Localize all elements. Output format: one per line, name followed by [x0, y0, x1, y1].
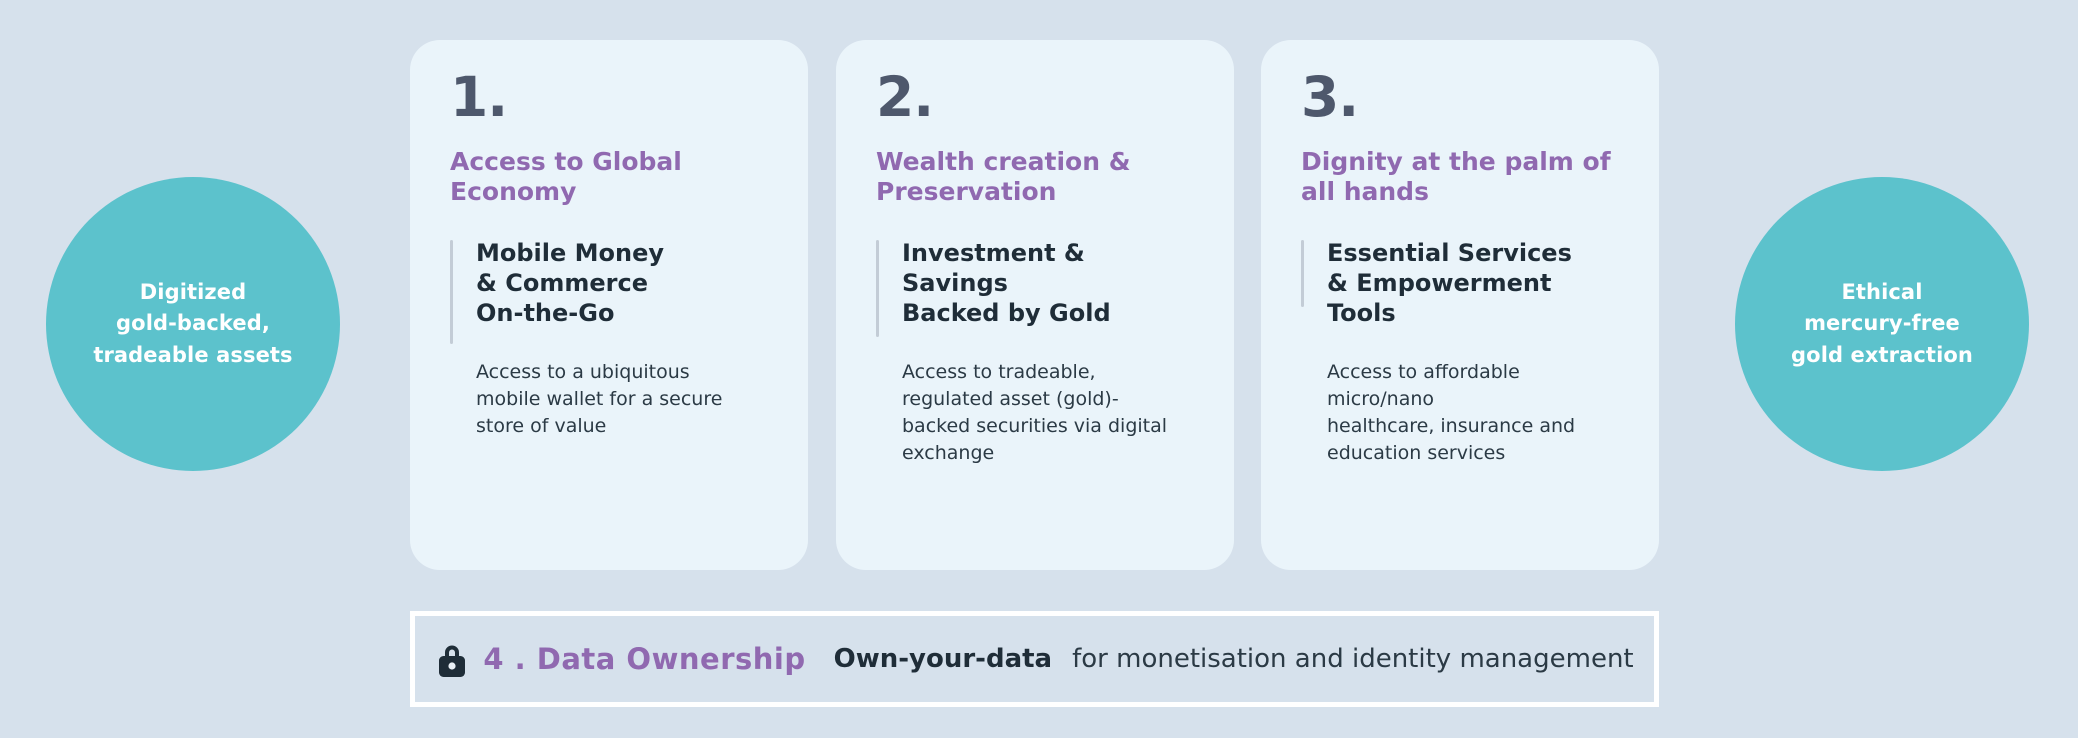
pillar-number-2: 2.: [876, 70, 1194, 125]
left-circle-badge: Digitized gold-backed, tradeable assets: [46, 177, 340, 471]
data-ownership-label: 4 . Data Ownership: [483, 642, 805, 676]
pillar-body-desc-3: Access to affordable micro/nano healthca…: [1327, 359, 1619, 467]
accent-bar-icon: [1301, 240, 1304, 307]
data-ownership-strong-text: Own-your-data: [834, 644, 1053, 674]
data-ownership-bar: 4 . Data Ownership Own-your-data for mon…: [410, 611, 1659, 707]
left-circle-text: Digitized gold-backed, tradeable assets: [93, 277, 292, 372]
pillar-heading-1: Access to Global Economy: [450, 147, 768, 206]
pillar-card-2: 2. Wealth creation & Preservation Invest…: [836, 40, 1234, 570]
data-ownership-rest-text: for monetisation and identity management: [1072, 644, 1634, 674]
right-circle-text: Ethical mercury-free gold extraction: [1791, 277, 1973, 372]
pillar-heading-2: Wealth creation & Preservation: [876, 147, 1194, 206]
accent-bar-icon: [450, 240, 453, 344]
infographic-canvas: Digitized gold-backed, tradeable assets …: [0, 0, 2078, 738]
pillar-body-1: Mobile Money & Commerce On-the-Go Access…: [450, 238, 768, 440]
pillar-body-title-2: Investment & Savings Backed by Gold: [902, 238, 1194, 329]
right-circle-badge: Ethical mercury-free gold extraction: [1735, 177, 2029, 471]
pillar-body-2: Investment & Savings Backed by Gold Acce…: [876, 238, 1194, 467]
pillar-number-3: 3.: [1301, 70, 1619, 125]
pillar-body-desc-2: Access to tradeable, regulated asset (go…: [902, 359, 1194, 467]
pillar-body-3: Essential Services & Empowerment Tools A…: [1301, 238, 1619, 467]
lock-icon: [435, 641, 469, 679]
pillar-heading-3: Dignity at the palm of all hands: [1301, 147, 1619, 206]
pillar-card-1: 1. Access to Global Economy Mobile Money…: [410, 40, 808, 570]
pillar-body-title-3: Essential Services & Empowerment Tools: [1327, 238, 1619, 329]
pillar-number-1: 1.: [450, 70, 768, 125]
pillar-body-desc-1: Access to a ubiquitous mobile wallet for…: [476, 359, 768, 440]
pillar-body-title-1: Mobile Money & Commerce On-the-Go: [476, 238, 768, 329]
accent-bar-icon: [876, 240, 879, 337]
pillar-card-3: 3. Dignity at the palm of all hands Esse…: [1261, 40, 1659, 570]
